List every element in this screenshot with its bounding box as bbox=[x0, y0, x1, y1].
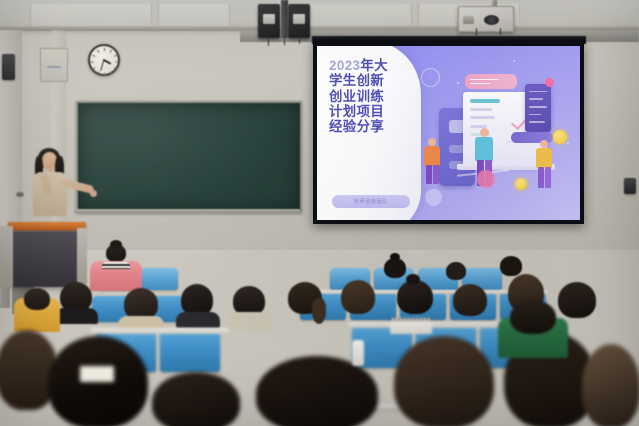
presenter-hand-left bbox=[48, 164, 55, 172]
wall-sign bbox=[40, 48, 68, 82]
illustration-side-panel bbox=[525, 84, 551, 132]
audience-head-far-1 bbox=[380, 256, 410, 284]
illustration-person-right bbox=[535, 140, 553, 188]
podium-side-panel bbox=[0, 226, 13, 288]
notebook bbox=[390, 318, 432, 334]
illustration-pink-dot bbox=[545, 78, 554, 87]
slide-badge-button: 科研创新团队 bbox=[332, 195, 410, 208]
foreground-head-3 bbox=[148, 372, 244, 426]
slide-title-line-5: 经验分享 bbox=[329, 119, 415, 134]
audience-head-far-2 bbox=[442, 262, 470, 288]
wall-clock bbox=[88, 44, 120, 76]
projector-icon bbox=[458, 6, 514, 32]
chalk-tray bbox=[74, 209, 300, 213]
student-green-jacket bbox=[498, 300, 568, 358]
audience-head-e bbox=[228, 286, 272, 330]
slide-title-year: 2023 bbox=[329, 58, 360, 73]
microphone-stand bbox=[20, 196, 22, 222]
projector-lens bbox=[484, 15, 499, 25]
hair-clip bbox=[80, 366, 114, 382]
water-bottle bbox=[352, 340, 364, 366]
audience-head-d bbox=[176, 284, 220, 328]
podium-top bbox=[8, 222, 86, 231]
audience-head-c bbox=[118, 288, 164, 332]
foreground-head-2 bbox=[44, 336, 154, 426]
slide-title: 2023年大 学生创新 创业训练 计划项目 经验分享 bbox=[329, 58, 415, 134]
slide-title-line-4: 计划项目 bbox=[329, 104, 415, 119]
audience-head-g bbox=[336, 280, 380, 324]
slide-title-line-3: 创业训练 bbox=[329, 89, 415, 104]
audience-head-f bbox=[282, 282, 328, 328]
ceiling-speaker-right bbox=[288, 4, 310, 38]
projection-screen: 2023年大 学生创新 创业训练 计划项目 经验分享 科研创新团队 bbox=[313, 42, 584, 224]
illustration-person-left bbox=[423, 138, 441, 184]
blackboard bbox=[76, 101, 302, 213]
audience-head-a bbox=[54, 282, 98, 322]
illustration-pink-blob bbox=[477, 170, 495, 188]
slide-title-line-1-tail: 年大 bbox=[360, 58, 388, 73]
slide-dot-decor bbox=[425, 189, 442, 206]
podium-right-panel bbox=[77, 228, 87, 284]
illustration-yellow-ball bbox=[515, 178, 527, 190]
wall-speaker-icon bbox=[2, 54, 15, 80]
slide-content: 2023年大 学生创新 创业训练 计划项目 经验分享 科研创新团队 bbox=[317, 46, 580, 220]
illustration-pink-card bbox=[465, 74, 517, 89]
ceiling-speaker-left bbox=[258, 4, 280, 38]
podium-body bbox=[12, 231, 78, 287]
audience-head-far-3 bbox=[496, 256, 526, 284]
foreground-head-4 bbox=[252, 356, 382, 426]
speaker-mount-pole bbox=[281, 0, 288, 38]
student-hair-bun bbox=[110, 240, 122, 249]
lecture-hall-photo: 2023年大 学生创新 创业训练 计划项目 经验分享 科研创新团队 bbox=[0, 0, 639, 426]
illustration-lightbulb bbox=[553, 130, 567, 144]
foreground-head-5 bbox=[390, 336, 498, 426]
audience-head-b bbox=[14, 288, 60, 332]
foreground-head-7 bbox=[582, 344, 639, 426]
slide-title-line-2: 学生创新 bbox=[329, 73, 415, 88]
presenter-hand-right bbox=[90, 190, 97, 197]
slide-ring-decor bbox=[421, 68, 440, 87]
wall-speaker-right bbox=[624, 178, 636, 194]
microphone-head bbox=[16, 192, 24, 197]
